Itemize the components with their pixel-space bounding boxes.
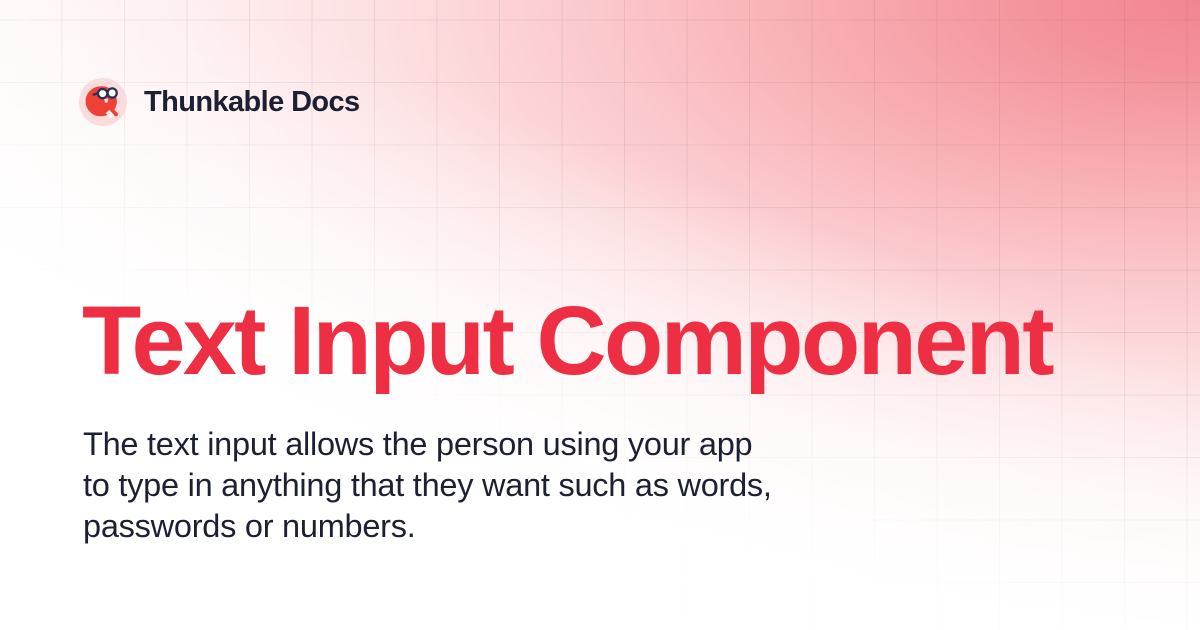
page-description: The text input allows the person using y… (83, 424, 883, 547)
brand-name: Thunkable Docs (144, 88, 360, 117)
description-line: to type in anything that they want such … (83, 467, 772, 503)
description-line: The text input allows the person using y… (83, 426, 752, 462)
thunkable-blob-mascot-icon (78, 77, 128, 127)
description-line: passwords or numbers. (83, 508, 416, 544)
brand-lockup: Thunkable Docs (78, 77, 360, 127)
card-content: Thunkable Docs Text Input Component The … (0, 0, 1200, 630)
social-card: Thunkable Docs Text Input Component The … (0, 0, 1200, 630)
page-title: Text Input Component (82, 292, 1052, 389)
